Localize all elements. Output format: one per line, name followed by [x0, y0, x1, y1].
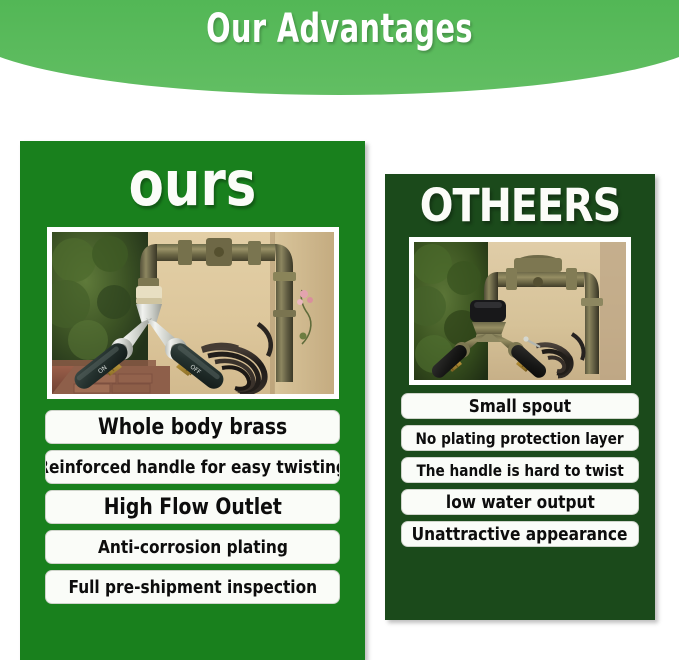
list-item: Reinforced handle for easy twisting — [45, 450, 340, 484]
header-banner: Our Advantages — [0, 0, 679, 95]
list-item: low water output — [401, 489, 639, 515]
list-item: The handle is hard to twist — [401, 457, 639, 483]
ours-panel: ours — [20, 141, 365, 660]
list-item: Unattractive appearance — [401, 521, 639, 547]
feature-label: No plating protection layer — [416, 429, 624, 448]
others-product-photo — [409, 237, 631, 385]
list-item: Small spout — [401, 393, 639, 419]
feature-label: Whole body brass — [98, 415, 287, 440]
feature-label: High Flow Outlet — [103, 495, 281, 520]
feature-label: Unattractive appearance — [412, 524, 628, 545]
feature-label: The handle is hard to twist — [416, 461, 623, 480]
list-item: Whole body brass — [45, 410, 340, 444]
list-item: Full pre-shipment inspection — [45, 570, 340, 604]
ours-feature-list: Whole body brass Reinforced handle for e… — [20, 410, 365, 604]
others-feature-list: Small spout No plating protection layer … — [385, 393, 655, 547]
others-product-photo-image — [414, 242, 626, 380]
list-item: Anti-corrosion plating — [45, 530, 340, 564]
others-heading: OTHEERS — [388, 182, 653, 230]
feature-label: low water output — [446, 492, 595, 513]
list-item: No plating protection layer — [401, 425, 639, 451]
others-panel: OTHEERS — [385, 174, 655, 620]
page-title: Our Advantages — [36, 8, 643, 50]
ours-product-photo: ON OFF — [47, 227, 339, 399]
list-item: High Flow Outlet — [45, 490, 340, 524]
feature-label: Reinforced handle for easy twisting — [45, 457, 340, 478]
ours-heading: ours — [34, 151, 351, 217]
ours-product-photo-image: ON OFF — [52, 232, 334, 394]
feature-label: Full pre-shipment inspection — [68, 577, 317, 598]
feature-label: Anti-corrosion plating — [98, 537, 288, 558]
feature-label: Small spout — [469, 396, 571, 417]
